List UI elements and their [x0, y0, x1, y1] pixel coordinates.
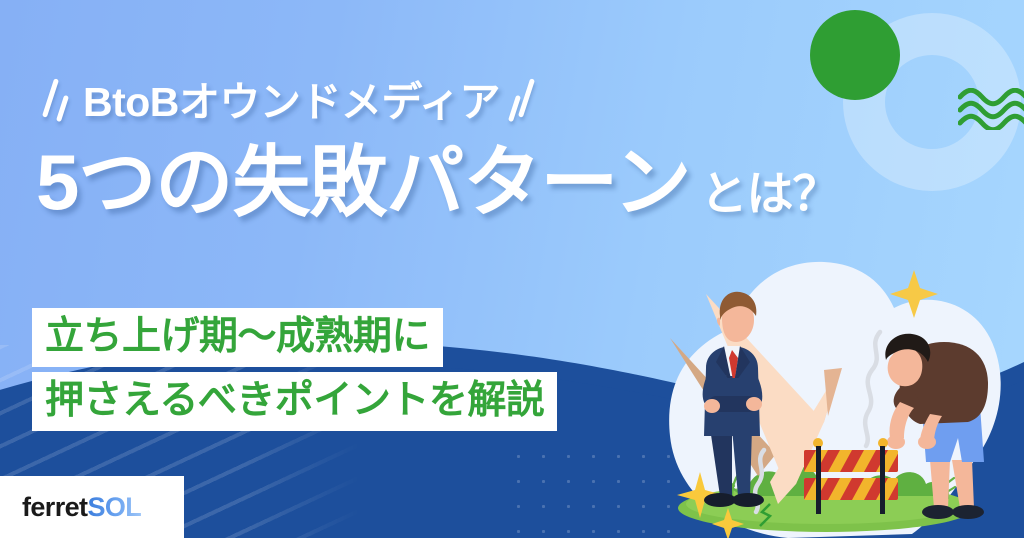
kicker-text: BtoBオウンドメディア	[83, 68, 500, 128]
double-slash-icon	[48, 70, 65, 126]
logo-primary-text: ferret	[22, 492, 87, 523]
wave-lines-icon	[958, 88, 1024, 130]
kicker-line: BtoBオウンドメディア	[48, 70, 529, 126]
headline-main: 5つの失敗パターン	[36, 143, 690, 221]
subtitle-line-1: 立ち上げ期〜成熟期に	[32, 308, 443, 367]
failed-paper-plane-crash-illustration	[628, 246, 1024, 538]
green-circle-decor	[810, 10, 900, 100]
logo[interactable]: ferret SOL	[0, 476, 184, 538]
banner-canvas: BtoBオウンドメディア 5つの失敗パターン とは？ 立ち上げ期〜成熟期に 押さ…	[0, 0, 1024, 538]
logo-accent-text: SOL	[87, 492, 141, 523]
headline-suffix: とは？	[700, 170, 838, 217]
logo-wordmark: ferret SOL	[22, 492, 141, 523]
subtitle-line-2: 押さえるべきポイントを解説	[32, 372, 557, 431]
double-slash-icon	[512, 70, 529, 126]
page-title: 5つの失敗パターン とは？	[36, 143, 838, 221]
